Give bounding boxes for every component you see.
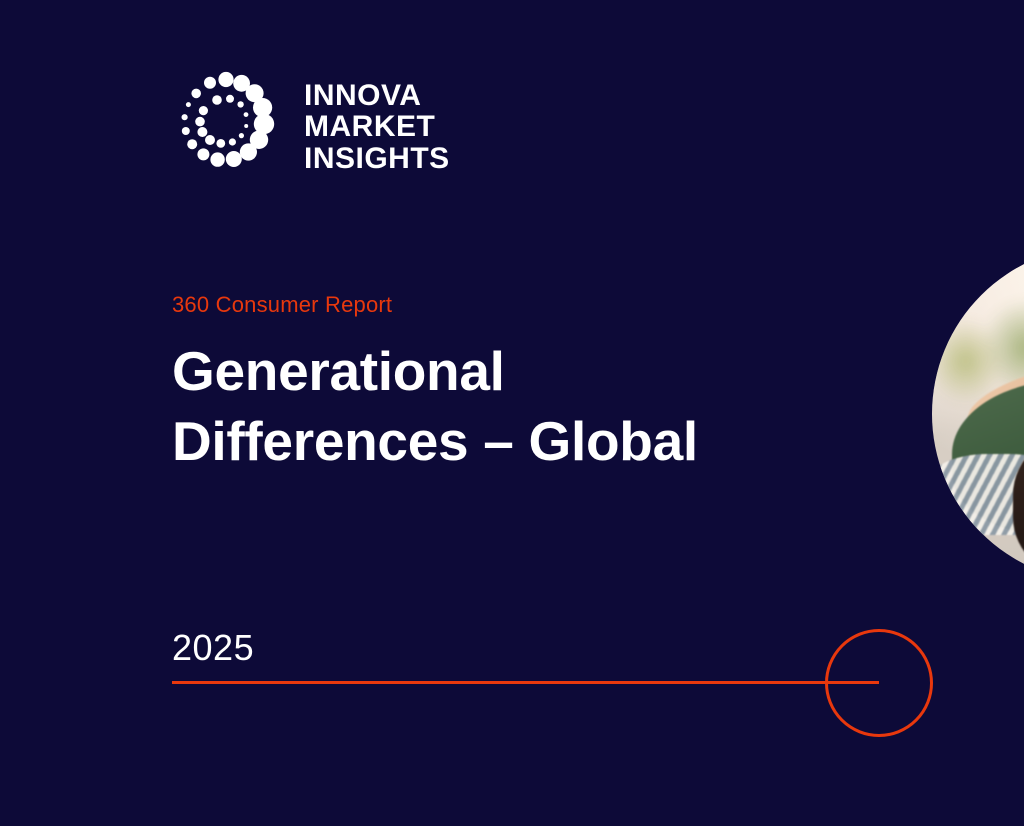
brand-wordmark-line-1: INNOVA	[304, 80, 450, 111]
brand-lockup: INNOVA MARKET INSIGHTS	[170, 70, 450, 182]
accent-horizontal-rule	[172, 681, 879, 684]
report-series-eyebrow: 360 Consumer Report	[172, 292, 812, 318]
report-year: 2025	[172, 627, 254, 669]
brand-wordmark-line-2: MARKET	[304, 111, 450, 142]
page-title: Generational Differences – Global	[172, 336, 812, 477]
report-cover-page: INNOVA MARKET INSIGHTS 360 Consumer Repo…	[0, 0, 1024, 826]
page-title-line-1: Generational	[172, 340, 505, 402]
innova-spiral-dots-logo	[170, 70, 282, 182]
accent-outline-circle	[825, 629, 933, 737]
cover-photo-circle	[932, 246, 1024, 582]
page-title-line-2: Differences – Global	[172, 410, 698, 472]
cover-headline-block: 360 Consumer Report Generational Differe…	[172, 292, 812, 477]
brand-wordmark: INNOVA MARKET INSIGHTS	[304, 78, 450, 174]
cover-photo-image	[932, 246, 1024, 582]
brand-wordmark-line-3: INSIGHTS	[304, 143, 450, 174]
photo-striped-sleeve	[932, 454, 1024, 535]
